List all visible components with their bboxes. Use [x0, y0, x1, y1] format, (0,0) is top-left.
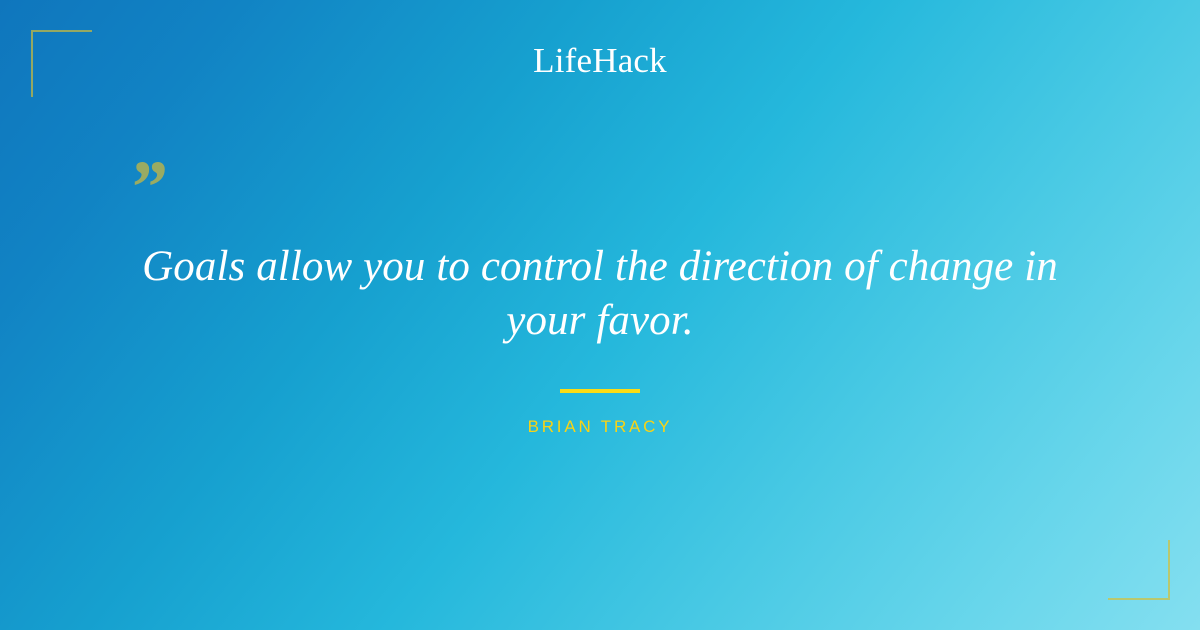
brand-logo-container: LifeHack: [0, 40, 1200, 82]
quote-container: Goals allow you to control the direction…: [100, 240, 1100, 348]
quotation-mark-icon: ”: [128, 150, 166, 226]
quote-card: LifeHack ” Goals allow you to control th…: [0, 0, 1200, 630]
divider-container: [0, 380, 1200, 398]
quote-text: Goals allow you to control the direction…: [100, 240, 1100, 348]
attribution-container: BRIAN TRACY: [0, 416, 1200, 438]
lifehack-logo: LifeHack: [533, 40, 667, 82]
corner-bracket-bottom-right-icon: [1108, 540, 1170, 600]
author-name: BRIAN TRACY: [528, 416, 673, 438]
divider-rule: [560, 389, 640, 393]
